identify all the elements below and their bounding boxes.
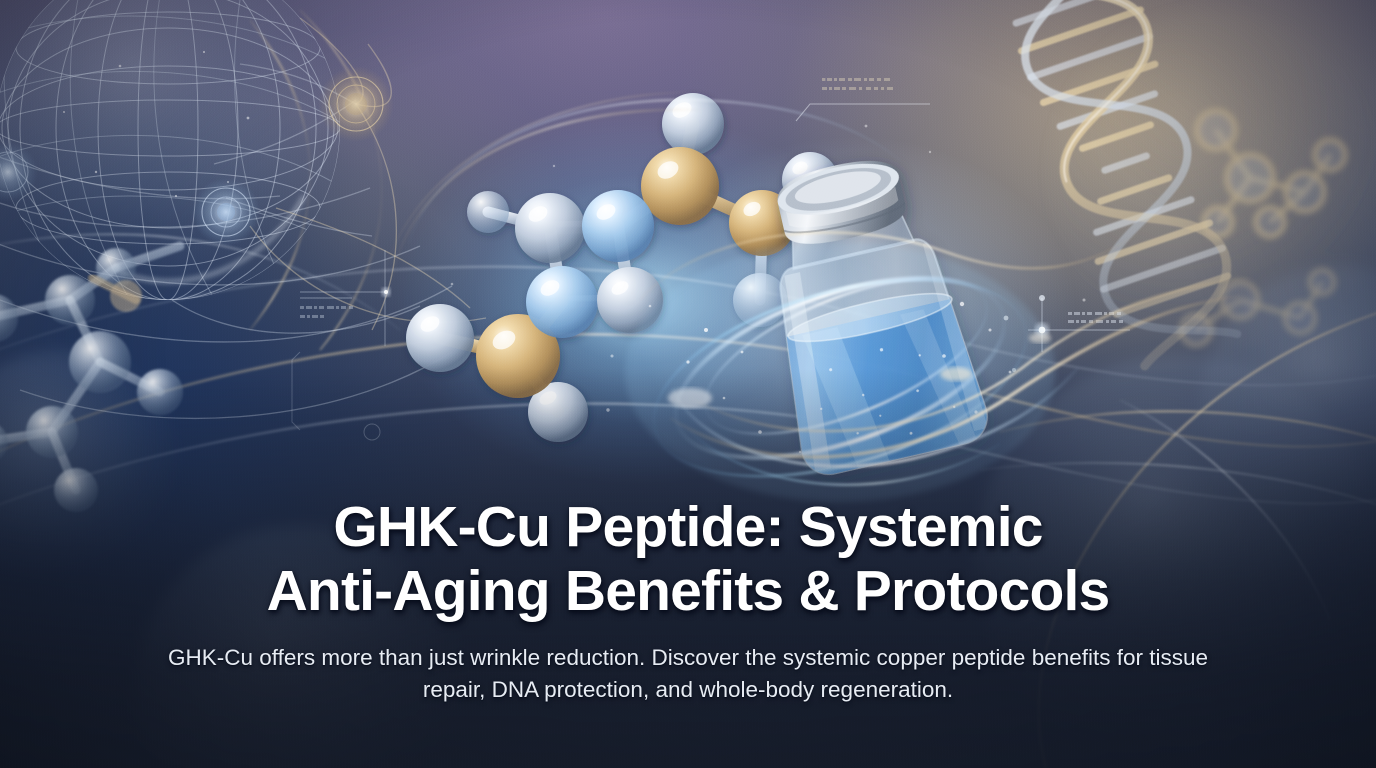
- subtitle-line-1: GHK-Cu offers more than just wrinkle red…: [168, 645, 1025, 670]
- headline-line-1: GHK-Cu Peptide: Systemic: [183, 495, 1193, 560]
- page-subtitle: GHK-Cu offers more than just wrinkle red…: [158, 642, 1218, 706]
- page-title: GHK-Cu Peptide: Systemic Anti-Aging Bene…: [183, 495, 1193, 624]
- hero-banner: GHK-Cu Peptide: Systemic Anti-Aging Bene…: [0, 0, 1376, 768]
- headline-line-2: Anti-Aging Benefits & Protocols: [183, 559, 1193, 624]
- hero-text-block: GHK-Cu Peptide: Systemic Anti-Aging Bene…: [0, 495, 1376, 706]
